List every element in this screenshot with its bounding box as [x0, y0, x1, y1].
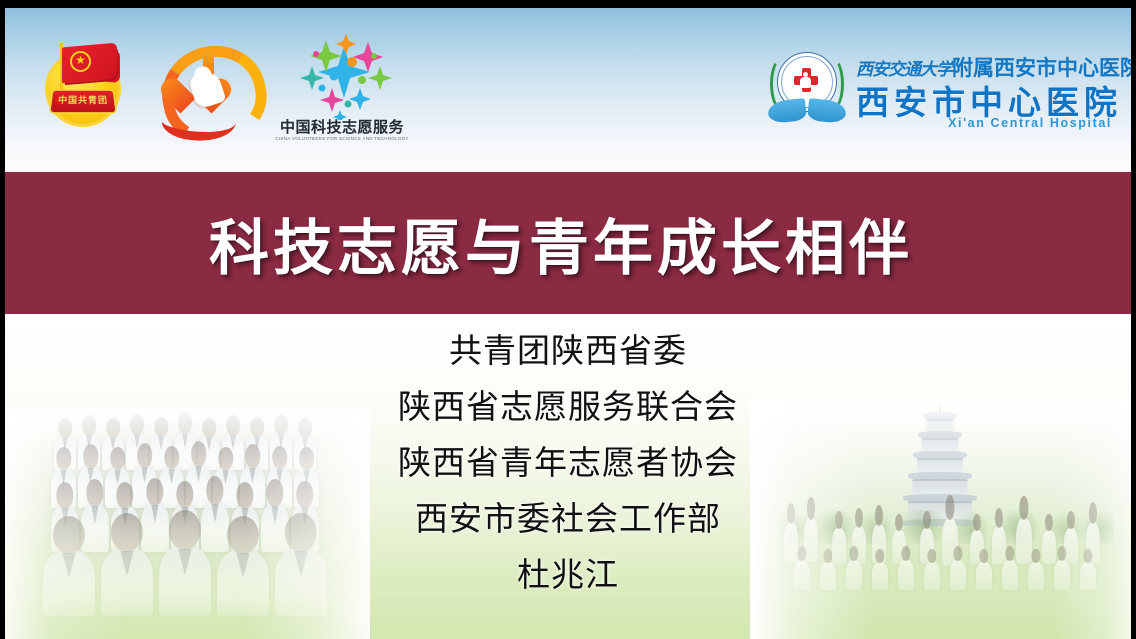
organization-credits: 共青团陕西省委 陕西省志愿服务联合会 陕西省青年志愿者协会 西安市委社会工作部 …: [0, 314, 1136, 639]
credit-line-4: 西安市委社会工作部: [415, 502, 721, 535]
volunteer-heart-hand-icon: [158, 40, 250, 140]
page-title: 科技志愿与青年成长相伴: [209, 200, 927, 287]
slide-header: ★ 中国共青团: [0, 8, 1136, 172]
communist-youth-league-emblem-icon: ★ 中国共青团: [38, 38, 130, 136]
emblem-ribbon: 中国共青团: [51, 91, 116, 112]
volunteer-logo-title: 中国科技志愿服务: [272, 116, 412, 137]
sparkle-svg: [282, 32, 406, 120]
china-sci-tech-volunteer-logo: 中国科技志愿服务 CHINA VOLUNTEERS FOR SCIENCE AN…: [272, 32, 412, 154]
blue-wings-icon: [768, 100, 846, 126]
sparkle-cluster-icon: [282, 32, 406, 120]
star-icon: ★: [70, 51, 91, 72]
left-black-edge: [0, 0, 5, 639]
credit-line-1: 共青团陕西省委: [449, 334, 687, 367]
person-icon: [800, 72, 811, 88]
title-banner: 科技志愿与青年成长相伴: [0, 172, 1136, 314]
credit-line-2: 陕西省志愿服务联合会: [398, 390, 738, 423]
credit-line-3: 陕西省青年志愿者协会: [398, 446, 738, 479]
top-black-strip: [0, 0, 1136, 8]
hospital-logo: 西安交通大学附属西安市中心医院 西安市中心医院 Xi'an Central Ho…: [756, 36, 1112, 140]
hospital-emblem-icon: [768, 50, 846, 128]
presenter-name: 杜兆江: [517, 558, 619, 591]
presentation-slide: ★ 中国共青团: [0, 0, 1136, 639]
slide-body: 共青团陕西省委 陕西省志愿服务联合会 陕西省青年志愿者协会 西安市委社会工作部 …: [0, 314, 1136, 639]
right-black-edge: [1131, 0, 1136, 639]
emblem-ribbon-text: 中国共青团: [51, 93, 114, 105]
volunteer-logo-subtitle: CHINA VOLUNTEERS FOR SCIENCE AND TECHNOL…: [272, 136, 412, 142]
hospital-name-en: Xi'an Central Hospital: [856, 116, 1112, 130]
